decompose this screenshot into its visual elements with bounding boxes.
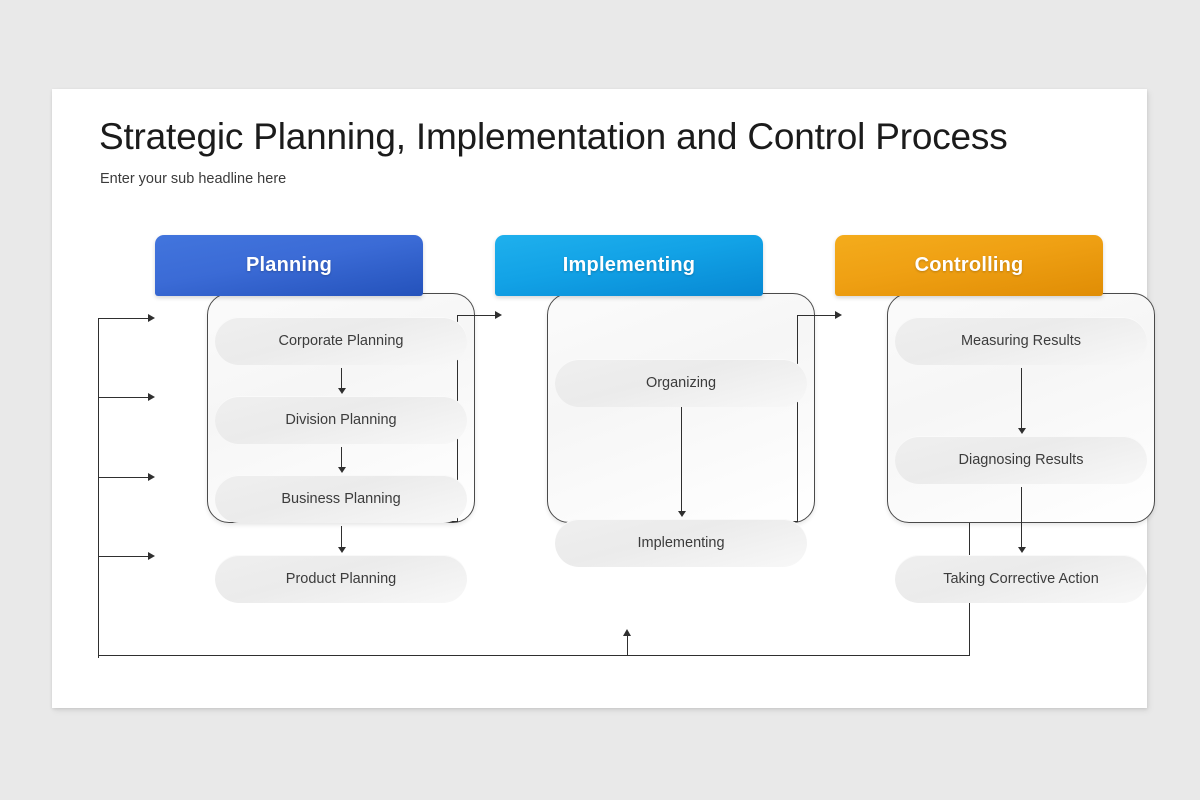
item-implementing[interactable]: Implementing <box>555 519 807 567</box>
arrow-business-to-product <box>336 526 347 553</box>
input-arrowhead-4 <box>148 552 155 560</box>
page-title: Strategic Planning, Implementation and C… <box>99 116 1008 158</box>
feedback-bottom-rail <box>98 655 970 656</box>
slide-canvas: Strategic Planning, Implementation and C… <box>0 0 1200 800</box>
page-subtitle: Enter your sub headline here <box>100 171 286 187</box>
input-arrowhead-1 <box>148 314 155 322</box>
item-measuring-results[interactable]: Measuring Results <box>895 317 1147 365</box>
feedback-into-implementing <box>627 635 628 656</box>
item-organizing[interactable]: Organizing <box>555 359 807 407</box>
arrow-organizing-to-implementing <box>676 407 687 517</box>
input-line-4 <box>98 556 148 557</box>
column-implementing: Implementing <box>495 235 763 296</box>
input-arrowhead-2 <box>148 393 155 401</box>
input-bus-trunk <box>98 318 99 658</box>
arrow-diagnosing-to-corrective <box>1016 487 1027 553</box>
item-product-planning[interactable]: Product Planning <box>215 555 467 603</box>
input-line-1 <box>98 318 148 319</box>
arrow-corporate-to-division <box>336 368 347 394</box>
column-header-controlling[interactable]: Controlling <box>835 235 1103 296</box>
link2-arrowhead <box>835 311 842 319</box>
link1-entry-segment <box>457 315 496 316</box>
link2-entry-segment <box>797 315 836 316</box>
item-diagnosing-results[interactable]: Diagnosing Results <box>895 436 1147 484</box>
arrow-division-to-business <box>336 447 347 473</box>
input-line-2 <box>98 397 148 398</box>
feedback-arrowhead <box>623 629 631 636</box>
column-header-planning[interactable]: Planning <box>155 235 423 296</box>
slide-surface: Strategic Planning, Implementation and C… <box>52 89 1147 708</box>
column-header-implementing[interactable]: Implementing <box>495 235 763 296</box>
item-taking-corrective-action[interactable]: Taking Corrective Action <box>895 555 1147 603</box>
item-division-planning[interactable]: Division Planning <box>215 396 467 444</box>
input-line-3 <box>98 477 148 478</box>
column-controlling: Controlling <box>835 235 1103 296</box>
item-corporate-planning[interactable]: Corporate Planning <box>215 317 467 365</box>
link2-riser <box>797 315 798 522</box>
item-business-planning[interactable]: Business Planning <box>215 475 467 523</box>
link1-arrowhead <box>495 311 502 319</box>
column-planning: Planning <box>155 235 423 296</box>
input-arrowhead-3 <box>148 473 155 481</box>
arrow-measuring-to-diagnosing <box>1016 368 1027 434</box>
